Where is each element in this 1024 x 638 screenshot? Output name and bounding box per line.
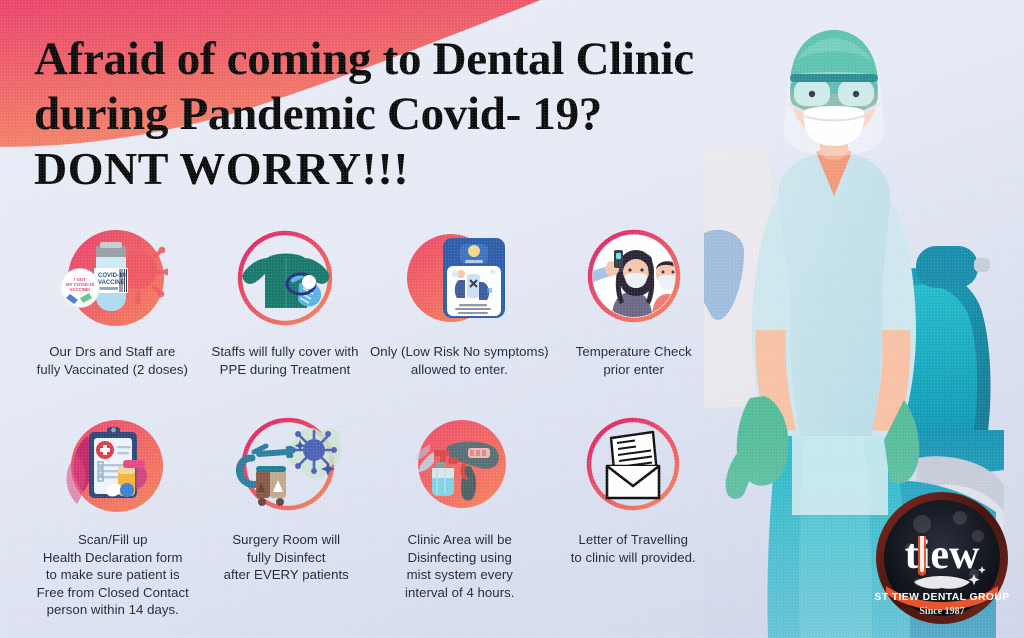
caption-line: to clinic will provided. (571, 549, 696, 567)
caption-line: Health Declaration form (37, 549, 189, 567)
precaution-grid: COVID-19 VACCINE I GOT MY COVID-19 VACCI… (0, 222, 720, 619)
precaution-caption: Staffs will fully cover with PPE during … (212, 343, 359, 378)
caption-line: Disinfecting using (405, 549, 515, 567)
poster-canvas: Afraid of coming to Dental Clinic during… (0, 0, 1024, 638)
precaution-item-ppe[interactable]: Staffs will fully cover with PPE during … (199, 222, 372, 378)
clipboard-form-icon (57, 410, 169, 522)
caption-line: prior enter (576, 361, 692, 379)
headline-line-3: DONT WORRY!!! (34, 142, 814, 196)
precaution-caption: Temperature Check prior enter (576, 343, 692, 378)
clinic-logo-badge[interactable]: tiew ST TIEW DENTAL GROUP Since 1987 (874, 490, 1010, 626)
precaution-item-low-risk-entry[interactable]: Only (Low Risk No symptoms) allowed to e… (371, 222, 547, 378)
vaccine-sticker-line3: VACCINE! (70, 287, 91, 292)
precaution-caption: Letter of Travelling to clinic will prov… (571, 531, 696, 566)
caption-line: Letter of Travelling (571, 531, 696, 549)
caption-line: allowed to enter. (370, 361, 549, 379)
precaution-row-2: Scan/Fill up Health Declaration form to … (0, 410, 720, 619)
caption-line: fully Vaccinated (2 doses) (37, 361, 188, 379)
headline-line-1: Afraid of coming to Dental Clinic (34, 32, 814, 87)
precaution-row-1: COVID-19 VACCINE I GOT MY COVID-19 VACCI… (0, 222, 720, 378)
precaution-item-travel-letter[interactable]: Letter of Travelling to clinic will prov… (547, 410, 721, 619)
caption-line: mist system every (405, 566, 515, 584)
precaution-caption: Our Drs and Staff are fully Vaccinated (… (37, 343, 188, 378)
sprayer-virus-icon (230, 410, 342, 522)
caption-line: PPE during Treatment (212, 361, 359, 379)
caption-line: Staffs will fully cover with (212, 343, 359, 361)
envelope-letter-icon (577, 410, 689, 522)
precaution-item-temperature-check[interactable]: Temperature Check prior enter (547, 222, 720, 378)
spray-gun-icon (404, 410, 516, 522)
caption-line: Clinic Area will be (405, 531, 515, 549)
precaution-item-vaccinated[interactable]: COVID-19 VACCINE I GOT MY COVID-19 VACCI… (26, 222, 199, 378)
precaution-caption: Scan/Fill up Health Declaration form to … (37, 531, 189, 619)
precaution-item-health-declaration[interactable]: Scan/Fill up Health Declaration form to … (26, 410, 200, 619)
precaution-caption: Surgery Room will fully Disinfect after … (224, 531, 349, 584)
caption-line: Free from Closed Contact (37, 584, 189, 602)
ppe-gown-icon (229, 222, 341, 334)
precaution-item-surgery-disinfect[interactable]: Surgery Room will fully Disinfect after … (200, 410, 374, 619)
caption-line: Scan/Fill up (37, 531, 189, 549)
caption-line: to make sure patient is (37, 566, 189, 584)
caption-line: Surgery Room will (224, 531, 349, 549)
caption-line: Only (Low Risk No symptoms) (370, 343, 549, 361)
caption-line: fully Disinfect (224, 549, 349, 567)
caption-line: Temperature Check (576, 343, 692, 361)
poster-headline: Afraid of coming to Dental Clinic during… (34, 32, 814, 196)
logo-since: Since 1987 (919, 606, 964, 617)
caption-line: interval of 4 hours. (405, 584, 515, 602)
caption-line: after EVERY patients (224, 566, 349, 584)
precaution-caption: Clinic Area will be Disinfecting using m… (405, 531, 515, 601)
thermometer-scan-icon (578, 222, 690, 334)
logo-group-name: ST TIEW DENTAL GROUP (874, 592, 1009, 603)
caption-line: person within 14 days. (37, 601, 189, 619)
precaution-item-mist-disinfect[interactable]: Clinic Area will be Disinfecting using m… (373, 410, 547, 619)
phone-health-app-icon (403, 222, 515, 334)
vaccine-vial-icon: COVID-19 VACCINE I GOT MY COVID-19 VACCI… (56, 222, 168, 334)
caption-line: Our Drs and Staff are (37, 343, 188, 361)
precaution-caption: Only (Low Risk No symptoms) allowed to e… (370, 343, 549, 378)
logo-wordmark: tiew (905, 532, 980, 578)
vaccine-label-line2: VACCINE (98, 280, 125, 286)
headline-line-2: during Pandemic Covid- 19? (34, 87, 814, 142)
